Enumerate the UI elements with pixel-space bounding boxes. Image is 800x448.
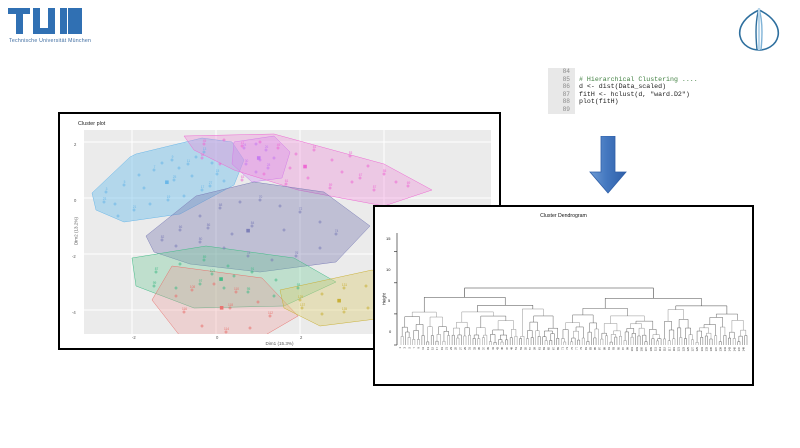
line-text: d <- dist(Data_scaled): [575, 83, 666, 91]
dendrogram-link: [494, 342, 496, 345]
dendrogram-link: [679, 319, 688, 328]
dendrogram-leaf-label: 33: [472, 346, 476, 349]
leaf-icon: [732, 6, 786, 52]
dendrogram-ylabel: Height: [382, 293, 387, 305]
dendrogram-link: [478, 339, 480, 345]
dendrogram-leaf-label: 115: [663, 346, 667, 351]
cluster-point-label: 116: [182, 307, 187, 311]
dendrogram-leaf-label: 123: [681, 346, 685, 351]
dendrogram-link: [550, 340, 552, 345]
dendrogram-leaf-label: 43: [496, 346, 500, 349]
cluster-point-label: 118: [228, 303, 233, 307]
cluster-centroid-2: [257, 156, 261, 160]
cluster-point-label: 67: [359, 173, 363, 177]
cluster-centroid-3: [303, 165, 307, 169]
code-line: 89: [548, 106, 748, 114]
cluster-xtick: 0: [216, 335, 218, 340]
dendrogram-link: [724, 335, 726, 345]
dendrogram-link: [631, 337, 633, 345]
dendrogram-link: [457, 338, 459, 345]
dendrogram-leaf-label: 29: [463, 346, 467, 349]
dendrogram-link: [673, 339, 675, 345]
dendrogram-link: [428, 327, 433, 342]
dendrogram-leaf-label: 73: [565, 346, 569, 349]
dendrogram-link: [732, 320, 743, 332]
cluster-point-label: 21: [133, 205, 137, 209]
dendrogram-leaf-label: 57: [528, 346, 532, 349]
dendrogram-link: [436, 341, 438, 345]
dendrogram-leaf-label: 95: [616, 346, 620, 349]
dendrogram-leaf-label: 25: [454, 346, 458, 349]
dendrogram-link: [625, 332, 628, 345]
dendrogram-link: [645, 342, 647, 345]
cluster-point-label: 49: [277, 143, 281, 147]
dendrogram-link: [464, 336, 466, 345]
cluster-point-label: 17: [201, 185, 205, 189]
line-text: # Hierarchical Clustering ....: [575, 76, 698, 84]
code-line: 87 fitH <- hclust(d, "ward.D2"): [548, 91, 748, 99]
dendrogram-leaf-label: 101: [630, 346, 634, 351]
dendrogram-link: [611, 316, 645, 324]
dendrogram-leaf-label: 45: [500, 346, 504, 349]
dendrogram-leaf-label: 21: [444, 346, 448, 349]
cluster-point-label: 27: [209, 181, 213, 185]
dendrogram-link: [500, 335, 506, 340]
dendrogram-link: [557, 338, 559, 345]
dendrogram-leaf-label: 135: [709, 346, 713, 351]
cluster-point-label: 69: [407, 181, 411, 185]
cluster-point-label: 61: [285, 179, 289, 183]
cluster-centroid-6: [220, 306, 224, 310]
cluster-point: [240, 178, 243, 181]
dendrogram-link: [691, 340, 693, 345]
dendrogram-link: [697, 331, 702, 342]
cluster-point-label: 84: [251, 221, 255, 225]
dendrogram-link: [526, 339, 528, 345]
dendrogram-link: [705, 336, 707, 345]
dendrogram-leaf-label: 67: [551, 346, 555, 349]
dendrogram-leaf-label: 149: [742, 346, 746, 351]
cluster-point-label: 72: [299, 207, 303, 211]
dendrogram-link: [405, 317, 420, 328]
cluster-point-label: 15: [216, 169, 220, 173]
dendrogram-leaf-label: 107: [644, 346, 648, 351]
dendrogram-leaf-label: 9: [417, 346, 421, 348]
cluster-point-label: 97: [199, 279, 203, 283]
dendrogram-leaf-label: 27: [458, 346, 462, 349]
dendrogram-link: [490, 334, 495, 342]
blue-down-arrow: [588, 136, 628, 194]
dendrogram-leaf-label: 145: [732, 346, 736, 351]
dendrogram-leaf-label: 75: [570, 346, 574, 349]
dendrogram-link: [638, 336, 640, 345]
dendrogram-leaf-label: 131: [700, 346, 704, 351]
dendrogram-leaf-label: 129: [695, 346, 699, 351]
dendrogram-leaf-label: 133: [705, 346, 709, 351]
dendrogram-link: [571, 342, 573, 345]
dendrogram-link: [437, 334, 440, 345]
dendrogram-leaf-label: 71: [561, 346, 565, 349]
dendrogram-tree: [401, 288, 747, 345]
dendrogram-link: [696, 342, 698, 345]
cluster-point-label: 68: [219, 203, 223, 207]
dendrogram-link: [741, 330, 746, 336]
dendrogram-ytick: 15: [386, 236, 390, 241]
dendrogram-leaf-label: 91: [607, 346, 611, 349]
dendrogram-ytick: 5: [388, 298, 390, 303]
dendrogram-link: [506, 340, 508, 345]
dendrogram-leaf-label: 39: [486, 346, 490, 349]
dendrogram-link: [515, 336, 517, 345]
cluster-point-label: 3: [106, 187, 108, 191]
dendrogram-link: [594, 338, 596, 345]
dendrogram-leaf-label: 105: [640, 346, 644, 351]
dendrogram-link: [439, 327, 447, 335]
line-number: 85: [548, 76, 575, 84]
cluster-point-label: 26: [265, 145, 269, 149]
dendrogram-link: [602, 333, 607, 339]
line-text: plot(fitH): [575, 98, 619, 106]
cluster-point-label: 131: [342, 283, 348, 287]
cluster-point-label: 78: [247, 251, 251, 255]
dendrogram-leaf-label: 23: [449, 346, 453, 349]
dendrogram-link: [733, 338, 735, 345]
line-number: 88: [548, 98, 575, 106]
dendrogram-link: [482, 338, 484, 345]
dendrogram-link: [658, 339, 661, 345]
dendrogram-leaf-label: 79: [579, 346, 583, 349]
dendrogram-leaf-label: 97: [621, 346, 625, 349]
dendrogram-leaf-label: 109: [649, 346, 653, 351]
dendrogram-link: [476, 328, 485, 336]
dendrogram-leaf-label: 121: [677, 346, 681, 351]
dendrogram-link: [465, 328, 470, 336]
cluster-point-label: 110: [234, 287, 239, 291]
dendrogram-leaf-label: 41: [491, 346, 495, 349]
dendrogram-link: [474, 335, 479, 339]
cluster-point-label: 63: [241, 175, 245, 179]
dendrogram-link: [468, 335, 470, 345]
dendrogram-link: [530, 322, 538, 331]
dendrogram-link: [465, 288, 654, 298]
dendrogram-leaf-label: 53: [519, 346, 523, 349]
slide-canvas: Technische Universität München 84 85 # H…: [0, 0, 800, 448]
dendrogram-leaf-label: 61: [537, 346, 541, 349]
dendrogram-link: [669, 330, 674, 341]
dendrogram-link: [716, 314, 737, 320]
cluster-point-label: 82: [161, 235, 165, 239]
line-number: 86: [548, 83, 575, 91]
dendrogram-link: [699, 328, 708, 333]
cluster-point-label: 99: [153, 281, 157, 285]
dendrogram-leaf-label: 69: [556, 346, 560, 349]
dendrogram-link: [501, 342, 503, 345]
dendrogram-link: [663, 339, 665, 345]
dendrogram-link: [551, 334, 554, 345]
dendrogram-leaf-label: 93: [612, 346, 616, 349]
dendrogram-link: [401, 336, 403, 345]
dendrogram-leaf-label: 49: [509, 346, 513, 349]
dendrogram-leaf-label: 99: [626, 346, 630, 349]
dendrogram-leaf-label: 65: [547, 346, 551, 349]
dendrogram-leaf-label: 113: [658, 346, 662, 351]
dendrogram-leaf-label: 89: [602, 346, 606, 349]
dendrogram-link: [422, 335, 424, 345]
dendrogram-link: [590, 323, 597, 332]
line-number: 84: [548, 68, 575, 76]
dendrogram-leaf-label: 13: [426, 346, 430, 349]
dendrogram-link: [536, 331, 539, 345]
dendrogram-link: [413, 339, 415, 345]
tum-wordmark-icon: [8, 8, 82, 34]
dendrogram-link: [684, 339, 686, 345]
dendrogram-link: [519, 339, 521, 345]
cluster-point-label: 9: [172, 155, 174, 159]
dendrogram-link: [588, 332, 591, 345]
dendrogram-link: [431, 336, 433, 345]
cluster-point-label: 74: [335, 229, 339, 233]
dendrogram-link: [668, 341, 670, 345]
dendrogram-panel: Cluster Dendrogram Height 0 5 10 15 1357…: [373, 205, 754, 386]
dendrogram-ytick: 0: [389, 329, 391, 334]
dendrogram-link: [402, 327, 407, 336]
dendrogram-link: [412, 312, 436, 317]
dendrogram-link: [417, 339, 419, 345]
dendrogram-link: [430, 317, 442, 327]
leaf-logo: [732, 6, 786, 52]
cluster-point-label: 66: [179, 225, 183, 229]
line-text: [575, 68, 579, 76]
dendrogram-link: [656, 341, 658, 345]
code-line: 85 # Hierarchical Clustering ....: [548, 76, 748, 84]
line-number: 87: [548, 91, 575, 99]
dendrogram-link: [427, 342, 429, 345]
cluster-point-label: 51: [313, 145, 317, 149]
cluster-point-label: 47: [241, 141, 245, 145]
dendrogram-link: [473, 338, 475, 345]
cluster-point-label: 76: [295, 251, 299, 255]
dendrogram-link: [414, 330, 419, 339]
dendrogram-axis: [394, 233, 397, 345]
dendrogram-leaf-label: 51: [514, 346, 518, 349]
dendrogram-link: [406, 332, 409, 345]
dendrogram-ytick: 10: [386, 267, 390, 272]
dendrogram-leaf-label: 17: [435, 346, 439, 349]
line-text: [575, 106, 579, 114]
cluster-point-label: 45: [203, 139, 207, 143]
cluster-point-label: 25: [173, 175, 177, 179]
dendrogram-link: [582, 338, 584, 345]
dendrogram-link: [627, 328, 634, 333]
cluster-point-label: 135: [342, 307, 348, 311]
cluster-xtick: 2: [300, 335, 302, 340]
dendrogram-link: [639, 328, 644, 336]
cluster-point-label: 87: [155, 267, 159, 271]
cluster-point-label: 129: [298, 295, 304, 299]
dendrogram-link: [738, 342, 740, 345]
cluster-point-label: 93: [297, 283, 301, 287]
dendrogram-leaf-label: 137: [714, 346, 718, 351]
dendrogram-leaf-label: 85: [593, 346, 597, 349]
dendrogram-link: [573, 315, 594, 323]
dendrogram-link: [456, 322, 467, 328]
dendrogram-link: [720, 327, 725, 342]
dendrogram-link: [652, 339, 654, 345]
dendrogram-leaf-label: 81: [584, 346, 588, 349]
dendrogram-link: [730, 332, 735, 338]
cluster-point-label: 137: [300, 303, 306, 307]
cluster-point-label: 108: [190, 285, 196, 289]
dendrogram-link: [481, 316, 506, 328]
dendrogram-link: [728, 338, 730, 345]
dendrogram-leaf-label: 19: [440, 346, 444, 349]
dendrogram-link: [745, 335, 747, 345]
dendrogram-leaf-label: 37: [482, 346, 486, 349]
cluster-ytick: 2: [74, 142, 76, 147]
dendrogram-link: [478, 305, 533, 312]
dendrogram-link: [447, 336, 449, 345]
cluster-point-label: 5: [124, 180, 126, 184]
cluster-point-label: 91: [251, 267, 255, 271]
dendrogram-leaf-label: 87: [598, 346, 602, 349]
dendrogram-link: [543, 337, 546, 345]
dendrogram-link: [619, 336, 621, 345]
dendrogram-leaf-label: 3: [403, 346, 407, 348]
dendrogram-link: [601, 339, 603, 345]
dendrogram-leaf-label: 5: [407, 346, 411, 348]
cluster-point-label: 53: [349, 151, 353, 155]
dendrogram-link: [444, 331, 449, 341]
dendrogram-link: [498, 321, 514, 330]
dendrogram-leaf-label: 119: [672, 346, 676, 351]
cluster-point-label: 30: [245, 159, 249, 163]
cluster-point-label: 19: [167, 195, 171, 199]
dendrogram-leaf-label: 83: [588, 346, 592, 349]
dendrogram-leaf-label: 147: [737, 346, 741, 351]
dendrogram-leaf-label: 31: [468, 346, 472, 349]
dendrogram-leaf-label: 59: [533, 346, 537, 349]
dendrogram-leaf-label: 125: [686, 346, 690, 351]
dendrogram-leaf-label: 7: [412, 346, 416, 348]
dendrogram-link: [704, 325, 716, 336]
cluster-centroid-7: [337, 299, 341, 303]
dendrogram-leaf-label: 77: [574, 346, 578, 349]
dendrogram-link: [605, 336, 607, 345]
dendrogram-leaf-label: 35: [477, 346, 481, 349]
cluster-centroid-4: [246, 229, 250, 233]
tum-subtitle: Technische Universität München: [9, 38, 91, 44]
dendrogram-link: [630, 324, 641, 329]
cluster-ytick: -4: [72, 310, 76, 315]
dendrogram-link: [538, 336, 540, 345]
cluster-point-label: 89: [203, 255, 207, 259]
dendrogram-link: [577, 340, 579, 345]
dendrogram-link: [510, 338, 512, 345]
cluster-point-label: 65: [201, 153, 205, 157]
line-text: fitH <- hclust(d, "ward.D2"): [575, 91, 690, 99]
cluster-point-label: 86: [207, 223, 211, 227]
dendrogram-link: [573, 331, 578, 340]
dendrogram-link: [452, 335, 454, 345]
cluster-point-label: 55: [383, 169, 387, 173]
dendrogram-link: [576, 327, 583, 338]
cluster-point-label: 80: [199, 237, 203, 241]
dendrogram-leaf-labels: 1357911131517192123252729313335373941434…: [398, 346, 746, 351]
dendrogram-link: [610, 342, 612, 345]
dendrogram-link: [424, 297, 505, 312]
dendrogram-link: [605, 298, 701, 308]
cluster-point-label: 11: [187, 159, 191, 163]
dendrogram-link: [453, 328, 459, 335]
dendrogram-link: [615, 337, 617, 345]
cluster-ytick: 0: [74, 198, 76, 203]
dendrogram-leaf-label: 127: [691, 346, 695, 351]
dendrogram-link: [710, 317, 723, 327]
dendrogram-title: Cluster Dendrogram: [375, 213, 752, 219]
code-line: 88 plot(fitH): [548, 98, 748, 106]
cluster-point-label: 101: [210, 269, 216, 273]
cluster-point-label: 114: [224, 327, 229, 331]
dendrogram-link: [680, 337, 682, 345]
dendrogram-link: [564, 342, 566, 345]
cluster-point-label: 23: [103, 197, 107, 201]
dendrogram-link: [632, 333, 635, 345]
cluster-point-label: 7: [154, 165, 156, 169]
dendrogram-link: [624, 340, 626, 345]
dendrogram-leaf-label: 103: [635, 346, 639, 351]
cluster-plot-title: Cluster plot: [78, 121, 105, 127]
dendrogram-link: [483, 335, 486, 345]
dendrogram-link: [458, 335, 461, 345]
dendrogram-leaf-label: 11: [421, 346, 425, 349]
dendrogram-leaf-label: 111: [653, 346, 657, 350]
dendrogram-link: [522, 309, 543, 336]
dendrogram-link: [462, 312, 494, 322]
cluster-centroid-1: [165, 180, 169, 184]
dendrogram-link: [613, 331, 620, 336]
cluster-point-label: 95: [247, 287, 251, 291]
cluster-point-label: 112: [268, 311, 273, 315]
dendrogram-leaf-label: 139: [718, 346, 722, 351]
dendrogram-link: [710, 339, 712, 345]
dendrogram-leaf-label: 1: [398, 346, 402, 348]
dendrogram-link: [604, 324, 617, 334]
dendrogram-link: [408, 337, 410, 345]
dendrogram-link: [714, 336, 716, 345]
dendrogram-link: [685, 328, 690, 339]
dendrogram-link: [653, 335, 659, 339]
code-block[interactable]: 84 85 # Hierarchical Clustering .... 86 …: [548, 68, 748, 114]
dendrogram-leaf-label: 15: [431, 346, 435, 349]
dendrogram-link: [531, 338, 533, 345]
cluster-plot-ylabel: Dim2 (13.2%): [74, 217, 79, 245]
dendrogram-link: [719, 342, 721, 345]
cluster-xtick: -2: [132, 335, 136, 340]
dendrogram-link: [548, 328, 557, 338]
dendrogram-leaf-label: 117: [667, 346, 671, 351]
dendrogram-link: [544, 331, 552, 337]
dendrogram-link: [566, 323, 580, 330]
dendrogram-link: [611, 334, 616, 342]
dendrogram-link: [595, 329, 598, 345]
dendrogram-leaf-label: 55: [523, 346, 527, 349]
dendrogram-link: [643, 335, 646, 345]
dendrogram-leaf-label: 143: [728, 346, 732, 351]
tum-logo: Technische Universität München: [8, 8, 148, 48]
dendrogram-link: [739, 336, 742, 345]
blue-arrow-icon: [588, 136, 628, 194]
cluster-point-label: 28: [267, 163, 271, 167]
